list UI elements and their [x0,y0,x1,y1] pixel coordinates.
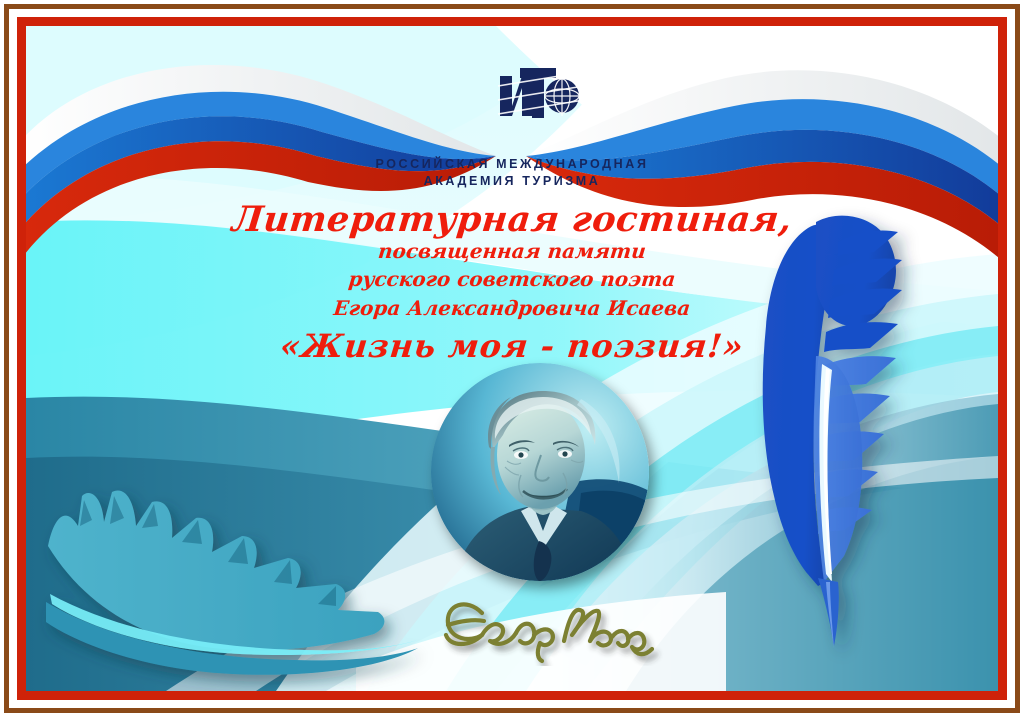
organization-line-2: АКАДЕМИЯ ТУРИЗМА [26,173,998,190]
organization-line-1: РОССИЙСКАЯ МЕЖДУНАРОДНАЯ [26,156,998,173]
organization-name: РОССИЙСКАЯ МЕЖДУНАРОДНАЯ АКАДЕМИЯ ТУРИЗМ… [26,156,998,190]
poster-content-area: РОССИЙСКАЯ МЕЖДУНАРОДНАЯ АКАДЕМИЯ ТУРИЗМ… [26,26,998,691]
dedication-line-2: русского советского поэта [26,265,998,293]
title-block: Литературная гостиная, посвященная памят… [26,202,998,366]
event-title: Литературная гостиная, [26,202,998,237]
poet-name: Егора Александровича Исаева [26,294,998,322]
poster-canvas: РОССИЙСКАЯ МЕЖДУНАРОДНАЯ АКАДЕМИЯ ТУРИЗМ… [0,0,1024,717]
poet-signature [436,591,666,666]
poet-portrait [431,363,649,581]
dedication-line-1: посвященная памяти [26,237,998,265]
rmat-logo [492,56,584,132]
event-subtitle-quote: «Жизнь моя - поэзия!» [26,326,998,366]
